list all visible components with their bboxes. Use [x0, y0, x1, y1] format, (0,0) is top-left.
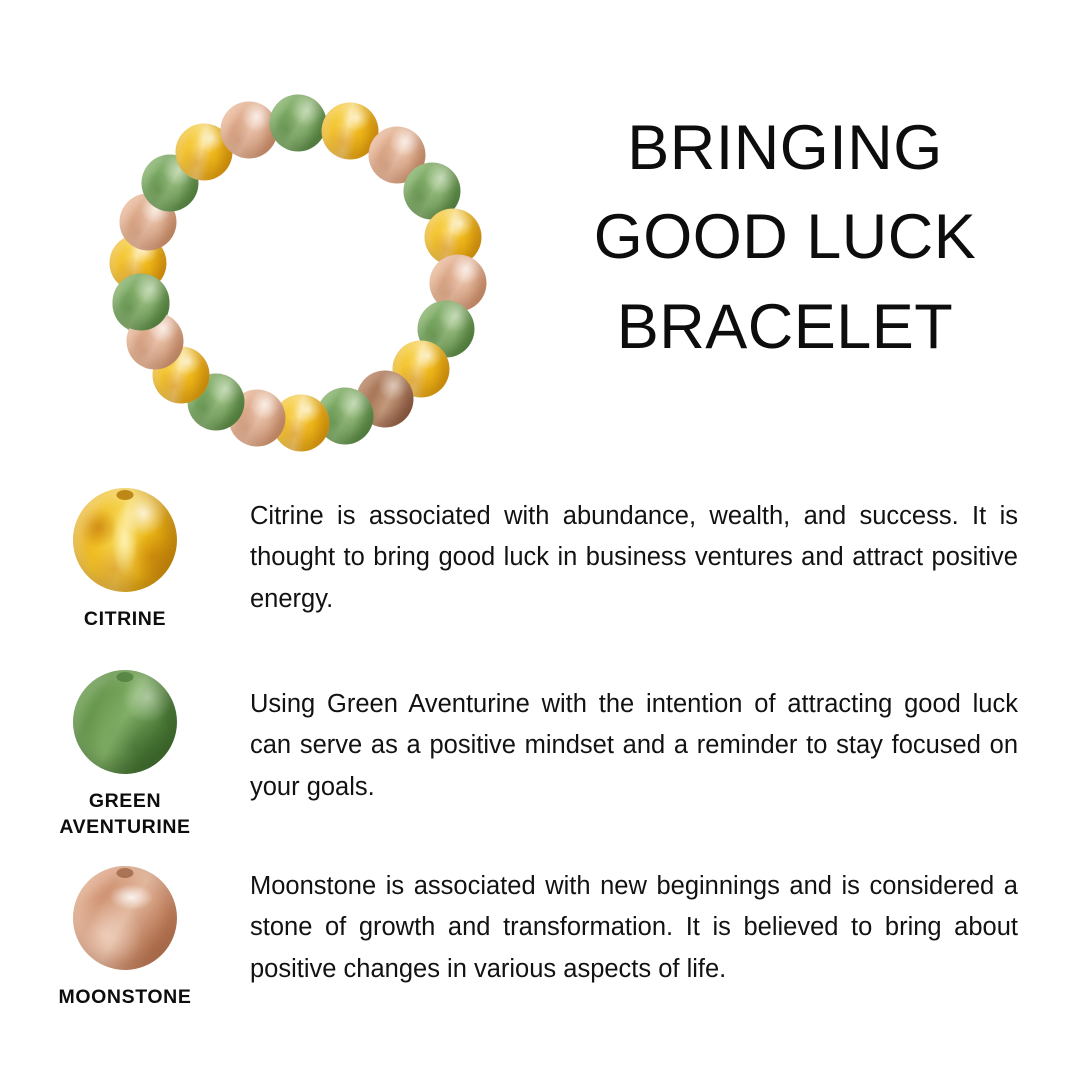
stone-label-moonstone: MOONSTONE: [59, 984, 192, 1010]
bracelet-image: [92, 78, 504, 468]
green-aventurine-bead-icon: [73, 670, 177, 774]
bracelet-bead-aventurine: [112, 273, 169, 330]
hero-section: BRINGING GOOD LUCK BRACELET: [0, 0, 1080, 478]
stone-row-citrine: CITRINE Citrine is associated with abund…: [0, 482, 1080, 658]
drill-hole-icon: [117, 490, 134, 500]
bracelet-bead-moonstone: [220, 102, 277, 159]
stone-row-green-aventurine: GREEN AVENTURINE Using Green Aventurine …: [0, 664, 1080, 854]
bracelet-bead-aventurine: [270, 95, 327, 152]
stone-label-line-1: GREEN: [59, 788, 190, 814]
stone-description-green-aventurine: Using Green Aventurine with the intentio…: [250, 664, 1080, 808]
stone-figure-green-aventurine: GREEN AVENTURINE: [0, 664, 250, 841]
bracelet-bead-ring: [92, 78, 504, 468]
drill-hole-icon: [117, 672, 134, 682]
stone-figure-citrine: CITRINE: [0, 482, 250, 632]
stone-description-moonstone: Moonstone is associated with new beginni…: [250, 860, 1080, 990]
title-line-3: BRACELET: [532, 283, 1038, 372]
stone-description-citrine: Citrine is associated with abundance, we…: [250, 482, 1080, 620]
drill-hole-icon: [117, 868, 134, 878]
stone-list: CITRINE Citrine is associated with abund…: [0, 478, 1080, 1080]
stone-figure-moonstone: MOONSTONE: [0, 860, 250, 1010]
stone-label-citrine: CITRINE: [84, 606, 166, 632]
page-title: BRINGING GOOD LUCK BRACELET: [532, 104, 1038, 372]
stone-row-moonstone: MOONSTONE Moonstone is associated with n…: [0, 860, 1080, 1060]
moonstone-bead-icon: [73, 866, 177, 970]
stone-label-green-aventurine: GREEN AVENTURINE: [59, 788, 190, 841]
stone-label-line-2: AVENTURINE: [59, 814, 190, 840]
citrine-bead-icon: [73, 488, 177, 592]
title-line-2: GOOD LUCK: [532, 193, 1038, 282]
title-line-1: BRINGING: [532, 104, 1038, 193]
